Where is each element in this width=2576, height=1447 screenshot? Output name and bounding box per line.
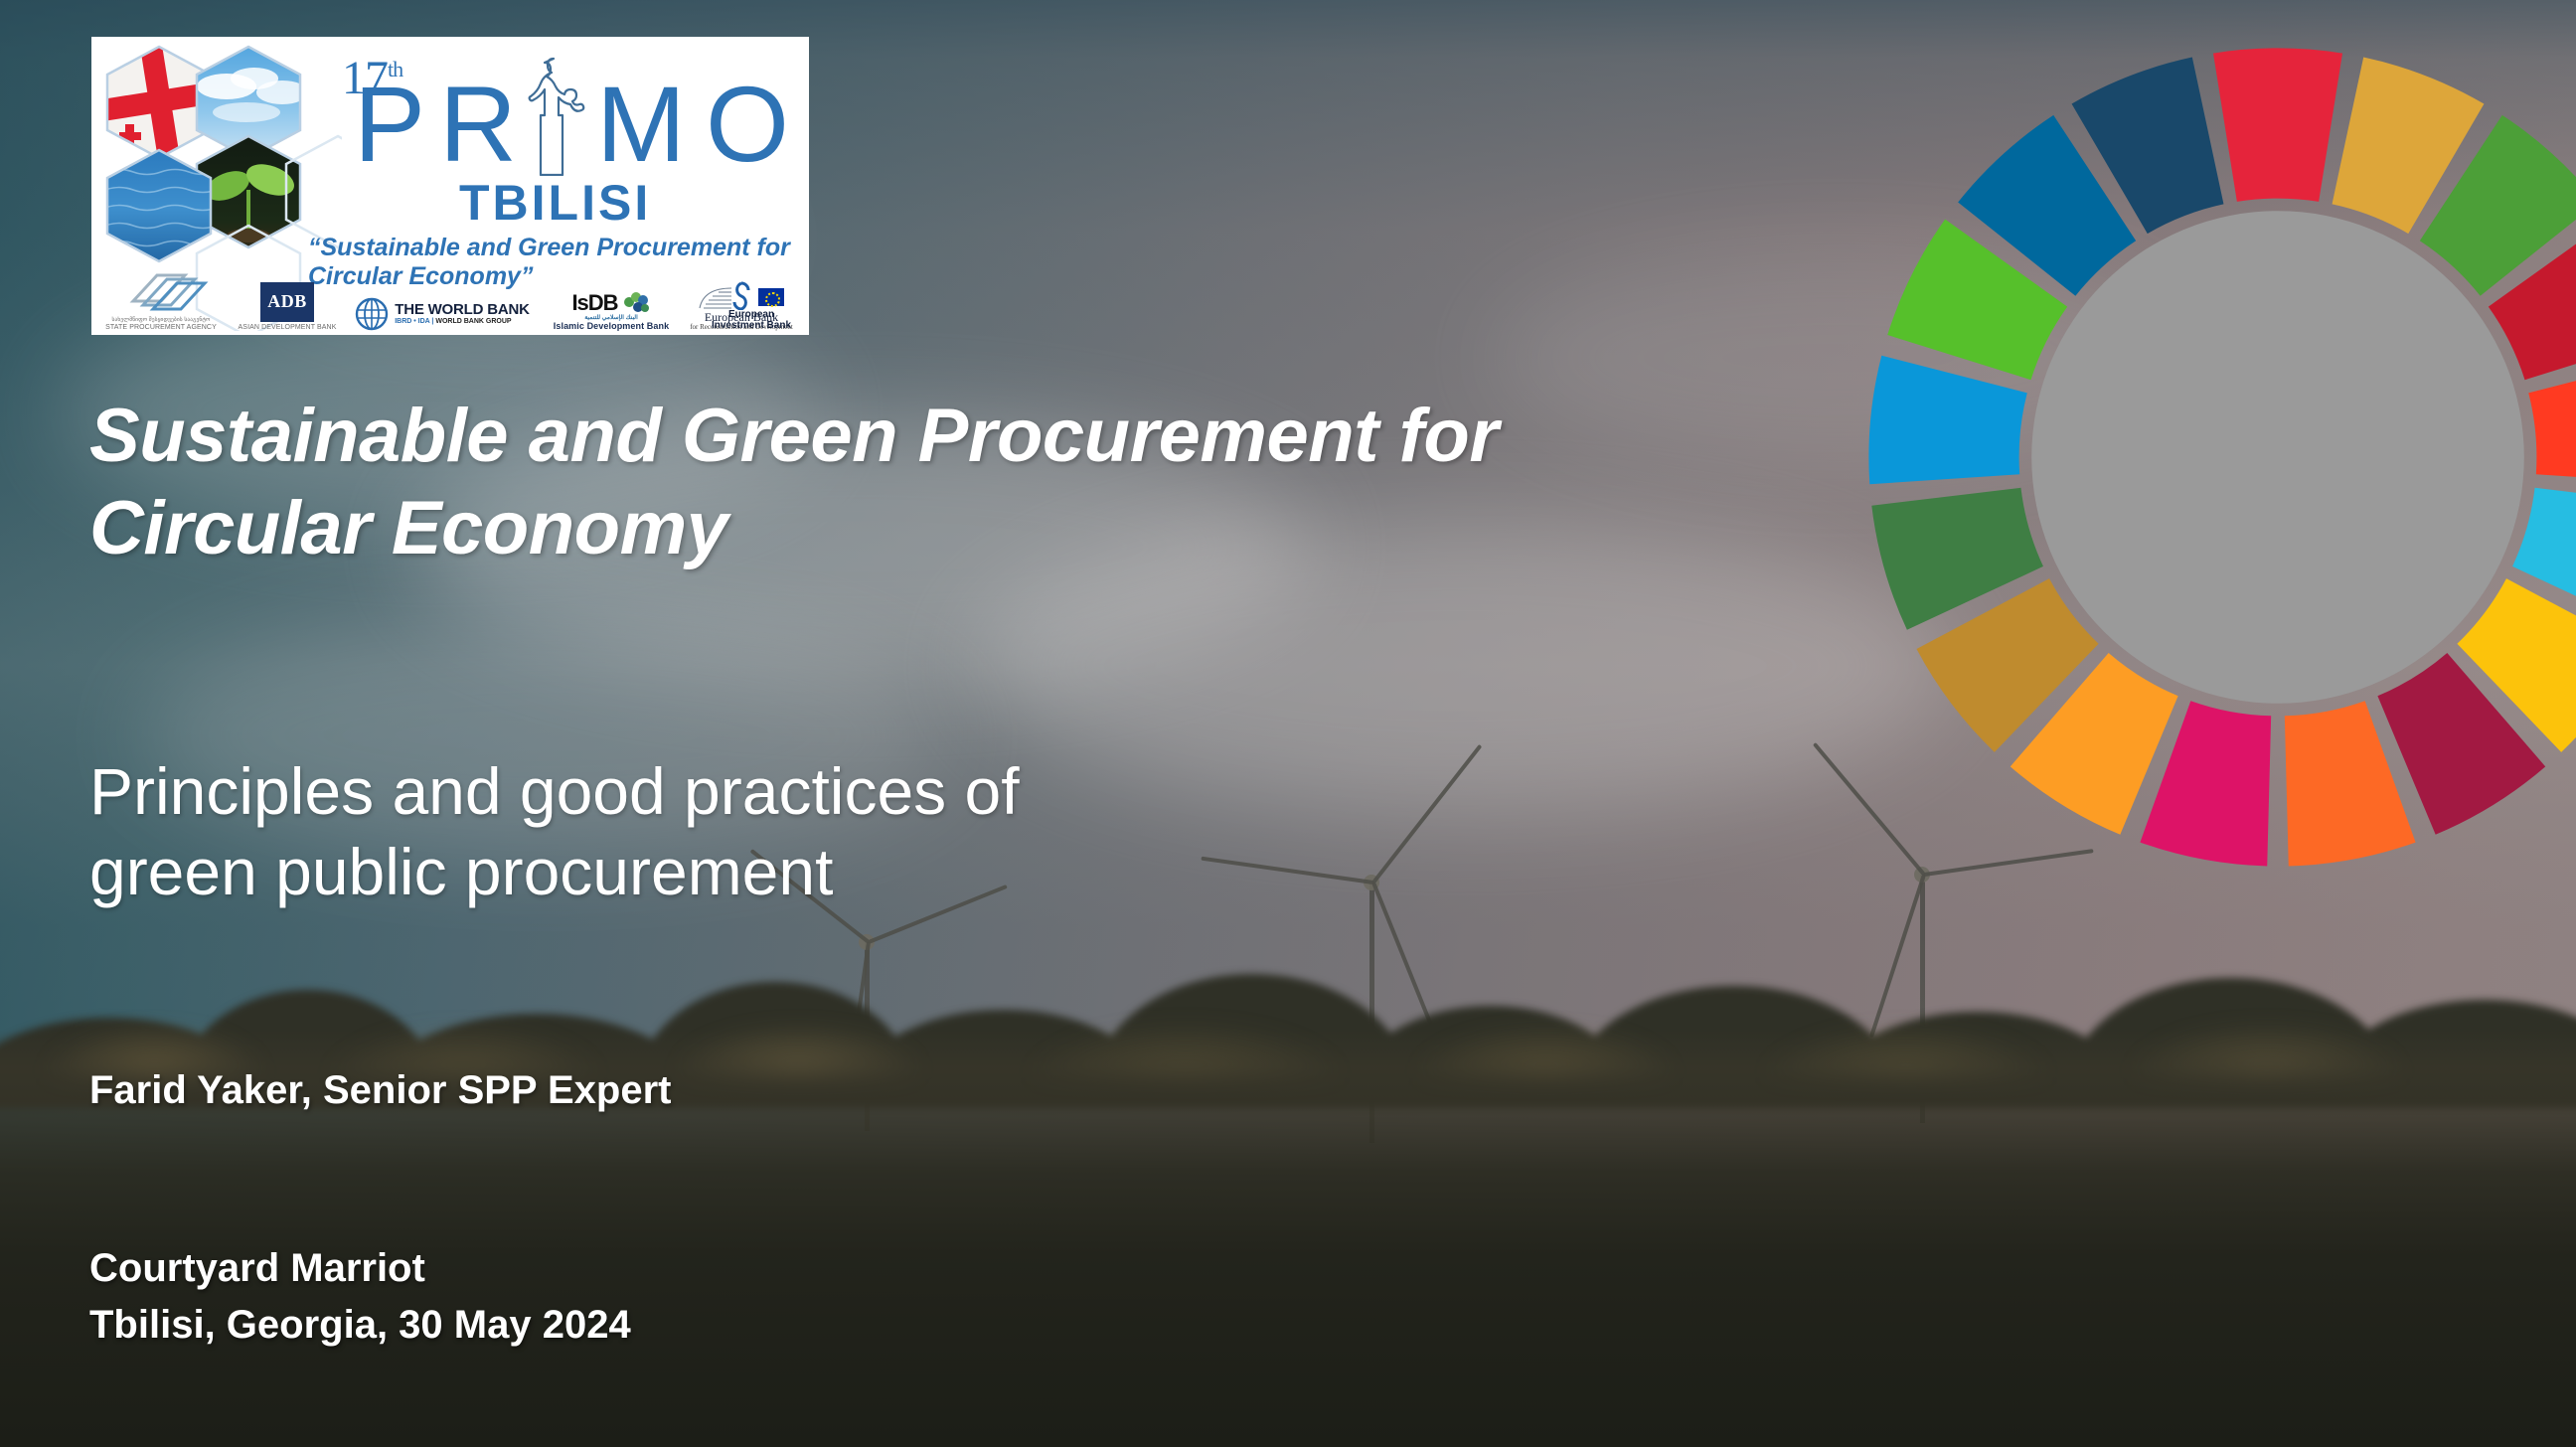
sdg-segment-10 — [2140, 701, 2271, 866]
eu-flag-icon — [758, 288, 784, 306]
partner-logo-adb: ADB ASIAN DEVELOPMENT BANK — [233, 282, 342, 331]
page-subtitle: Principles and good practices of green p… — [89, 751, 1501, 911]
sdg-segment-15 — [1887, 220, 2067, 381]
sdg-segment-6 — [2512, 488, 2576, 630]
sdg-segment-12 — [1916, 578, 2098, 752]
logo-city-name: TBILISI — [459, 174, 651, 232]
sdg-color-wheel — [1860, 40, 2576, 875]
venue-name: Courtyard Marriot — [89, 1240, 631, 1297]
sdg-segment-8 — [2377, 653, 2545, 835]
partner-logo-eib: European Investment Bank — [698, 286, 805, 331]
sdg-segment-2 — [2333, 58, 2485, 235]
sdg-segment-1 — [2213, 48, 2342, 201]
sdg-segment-9 — [2285, 701, 2416, 866]
partner-logo-world-bank: THE WORLD BANK IBRD • IDA | WORLD BANK G… — [348, 297, 537, 331]
venue-block: Courtyard Marriot Tbilisi, Georgia, 30 M… — [89, 1240, 631, 1354]
partner-logo-isdb: IsDB البنك الإسلامي للتنمية Islamic Deve… — [547, 289, 676, 331]
sdg-segment-4 — [2489, 220, 2576, 381]
isdb-mark: IsDB — [571, 291, 617, 314]
subtitle-line-2: green public procurement — [89, 832, 1501, 912]
sdg-segment-14 — [1868, 356, 2026, 484]
world-bank-globe-icon — [355, 297, 389, 331]
logo-letter-m: M — [596, 71, 686, 178]
presenter-name: Farid Yaker, Senior SPP Expert — [89, 1068, 672, 1113]
page-title: Sustainable and Green Procurement for Ci… — [89, 390, 1699, 575]
sdg-segment-3 — [2420, 115, 2576, 296]
primo-conference-logo: 17th P R M O TBILISI “Sustainable and Gr… — [91, 37, 809, 335]
background-top-light-strip — [0, 0, 2576, 26]
presentation-slide: 17th P R M O TBILISI “Sustainable and Gr… — [0, 0, 2576, 1447]
sdg-segment-11 — [2011, 653, 2178, 835]
adb-mark: ADB — [260, 282, 314, 322]
eib-arc-icon — [698, 286, 733, 310]
title-line-1: Sustainable and Green Procurement for — [89, 390, 1699, 482]
logo-letter-p: P — [354, 71, 425, 178]
venue-location-date: Tbilisi, Georgia, 30 May 2024 — [89, 1297, 631, 1354]
subtitle-line-1: Principles and good practices of — [89, 751, 1501, 832]
sdg-segment-5 — [2528, 356, 2576, 484]
sdg-segment-7 — [2457, 578, 2576, 752]
logo-letter-o: O — [706, 71, 789, 178]
sdg-segment-13 — [1871, 488, 2043, 630]
isdb-dome-icon — [623, 289, 651, 315]
mother-georgia-statue-icon — [521, 49, 594, 176]
title-line-2: Circular Economy — [89, 482, 1699, 574]
sdg-segment-17 — [2072, 58, 2224, 235]
sdg-segment-16 — [1958, 115, 2136, 296]
partner-logo-spa: სახელმწიფო შესყიდვების სააგენტო STATE PR… — [97, 318, 225, 331]
logo-letter-r: R — [439, 71, 517, 178]
logo-wordmark: P R M O — [336, 67, 803, 176]
